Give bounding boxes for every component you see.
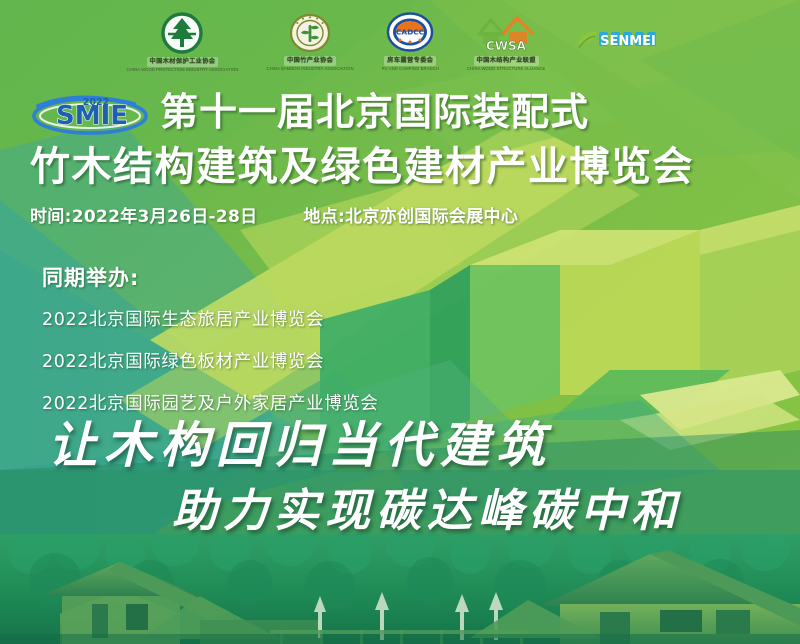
- event-meta: 时间:2022年3月26日-28日 地点:北京亦创国际会展中心: [30, 202, 518, 227]
- smie-year: 2022: [83, 97, 109, 108]
- event-date: 时间:2022年3月26日-28日: [30, 202, 257, 227]
- cadcc-oval-icon: CADCC: [386, 12, 434, 59]
- svg-text:CADCC: CADCC: [396, 27, 424, 36]
- logo-bamboo-industry-association[interactable]: 中国竹产业协会 CHINA BAMBOO INDUSTRY ASSOCIATIO…: [266, 12, 353, 71]
- headline-line-1: 第十一届北京国际装配式: [160, 90, 589, 134]
- concurrent-events-list: 2022北京国际生态旅居产业博览会 2022北京国际绿色板材产业博览会 2022…: [42, 306, 379, 415]
- smie-logo: SMIE 2022: [30, 90, 154, 134]
- event-venue: 地点:北京亦创国际会展中心: [303, 202, 518, 227]
- pine-tree-in-circle-icon: [160, 11, 204, 60]
- headline-line-2: 竹木结构建筑及绿色建材产业博览会: [0, 142, 800, 192]
- list-item: 2022北京国际园艺及户外家居产业博览会: [42, 390, 379, 415]
- wooden-cabins-forest-photo: [0, 534, 800, 644]
- svg-text:SENMEI: SENMEI: [601, 34, 657, 49]
- list-item: 2022北京国际绿色板材产业博览会: [42, 348, 379, 373]
- leaf-wordmark-icon: SENMEI: [573, 22, 673, 61]
- headline-block: SMIE 2022 第十一届北京国际装配式 竹木结构建筑及绿色建材产业博览会: [0, 86, 800, 192]
- slogan-line-2: 助力实现碳达峰碳中和: [0, 482, 800, 540]
- list-item: 2022北京国际生态旅居产业博览会: [42, 306, 379, 331]
- svg-text:CWSA: CWSA: [486, 39, 527, 53]
- house-roof-icon: CWSA: [473, 12, 539, 59]
- logo-senmei[interactable]: SENMEI: [573, 22, 673, 61]
- logo-sublabel: RV AND CAMPING BRANCH: [382, 66, 439, 71]
- logo-sublabel: CHINA WOOD STRUCTURE ALLIANCE: [467, 66, 546, 71]
- bamboo-seal-icon: [289, 12, 331, 59]
- logo-china-wood-protection-industry-association[interactable]: 中国木材保护工业协会 CHINA WOOD PROTECTION INDUSTR…: [127, 11, 239, 72]
- logo-sublabel: CHINA WOOD PROTECTION INDUSTRY ASSOCIATI…: [127, 67, 239, 72]
- concurrent-events-heading: 同期举办:: [42, 262, 379, 292]
- logo-cwsa-china-wood-structure-alliance[interactable]: CWSA 中国木结构产业联盟 CHINA WOOD STRUCTURE ALLI…: [467, 12, 546, 71]
- sponsor-logo-strip: 中国木材保护工业协会 CHINA WOOD PROTECTION INDUSTR…: [0, 0, 800, 82]
- slogan-line-1: 让木构回归当代建筑: [0, 414, 800, 476]
- concurrent-events-block: 同期举办: 2022北京国际生态旅居产业博览会 2022北京国际绿色板材产业博览…: [42, 262, 379, 432]
- logo-sublabel: CHINA BAMBOO INDUSTRY ASSOCIATION: [266, 66, 353, 71]
- poster-root: 中国木材保护工业协会 CHINA WOOD PROTECTION INDUSTR…: [0, 0, 800, 644]
- logo-cadcc-rv-camping-committee[interactable]: CADCC 房车露营专委会 RV AND CAMPING BRANCH: [382, 12, 439, 71]
- slogan-block: 让木构回归当代建筑 助力实现碳达峰碳中和: [0, 414, 800, 540]
